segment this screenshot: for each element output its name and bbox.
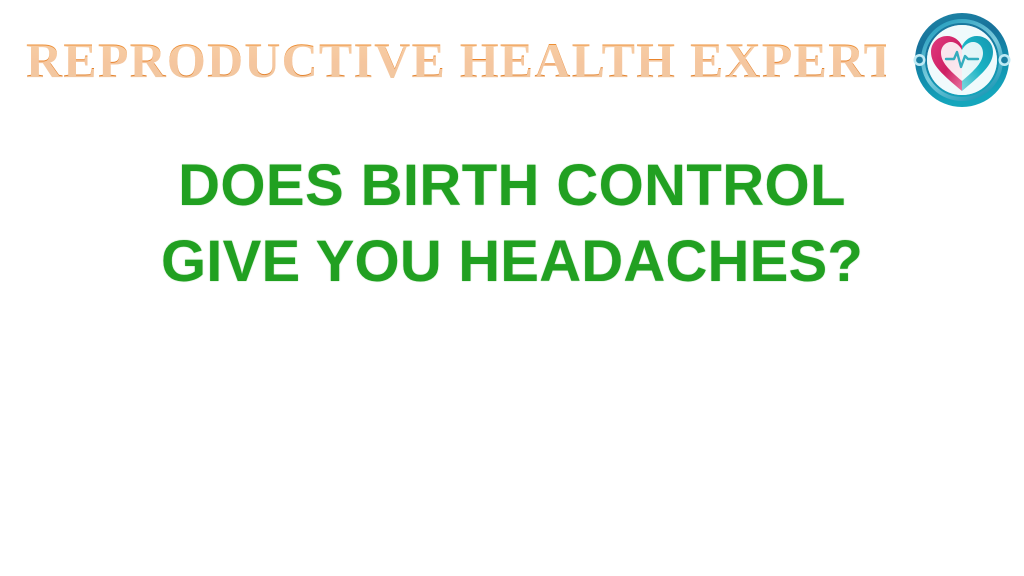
headline-line-1: DOES BIRTH CONTROL [0, 148, 1024, 224]
brand-wordmark[interactable]: REPRODUCTIVE HEALTH EXPERTS [26, 27, 886, 93]
heart-in-circle-logo-icon [913, 11, 1011, 109]
article-page: REPRODUCTIVE HEALTH EXPERTS [0, 0, 1024, 576]
article-headline: DOES BIRTH CONTROL GIVE YOU HEADACHES? [0, 148, 1024, 300]
site-logo[interactable] [913, 11, 1011, 109]
site-header: REPRODUCTIVE HEALTH EXPERTS [0, 0, 1024, 120]
headline-line-2: GIVE YOU HEADACHES? [0, 224, 1024, 300]
article-body-area [0, 320, 1024, 576]
